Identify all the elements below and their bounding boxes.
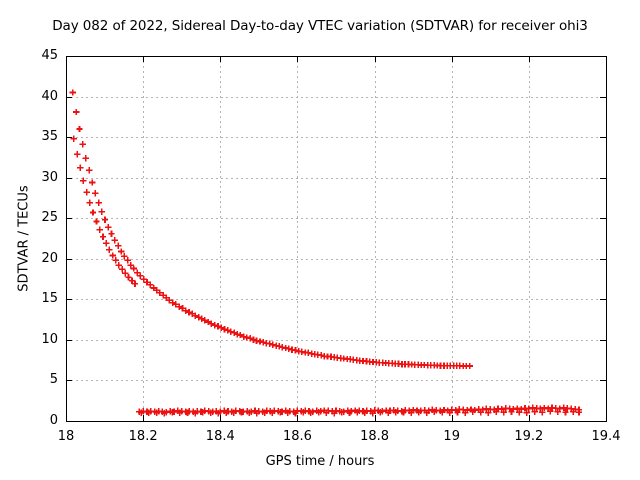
y-tick-label: 35 [18,129,58,144]
grid-lines [66,56,606,421]
y-tick-label: 5 [18,372,58,387]
chart-container: Day 082 of 2022, Sidereal Day-to-day VTE… [0,0,640,480]
y-tick-label: 45 [18,48,58,63]
y-tick-label: 40 [18,89,58,104]
x-tick-label: 18.2 [113,429,173,444]
x-tick-label: 18 [36,429,96,444]
axis-ticks [66,56,607,422]
x-tick-label: 19.2 [499,429,559,444]
x-tick-label: 19 [422,429,482,444]
y-tick-label: 0 [18,413,58,428]
y-tick-label: 30 [18,170,58,185]
y-tick-label: 10 [18,332,58,347]
x-tick-label: 19.4 [576,429,636,444]
y-tick-label: 20 [18,251,58,266]
x-tick-label: 18.6 [267,429,327,444]
plot-frame [67,57,607,422]
y-tick-label: 25 [18,210,58,225]
x-tick-label: 18.8 [345,429,405,444]
plot-area [0,0,640,480]
y-tick-label: 15 [18,291,58,306]
data-series-sdtvar-main-branch [70,89,473,369]
x-tick-label: 18.4 [190,429,250,444]
